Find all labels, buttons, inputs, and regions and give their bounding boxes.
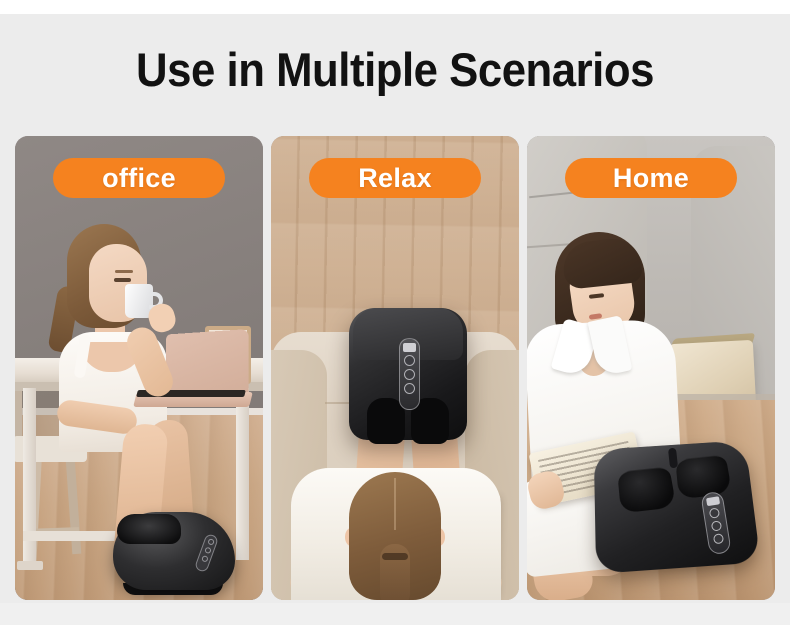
promo-page: Use in Multiple Scenarios (0, 0, 790, 625)
badge-home-label: Home (613, 164, 689, 192)
massager-control-button (404, 369, 415, 380)
massager-foot-opening (117, 514, 181, 544)
massager-control-button (404, 383, 415, 394)
badge-relax[interactable]: Relax (309, 158, 481, 198)
massager-display (706, 496, 720, 506)
page-title: Use in Multiple Scenarios (28, 42, 763, 98)
office-woman-eye (114, 278, 131, 282)
massager-control-button (204, 546, 212, 554)
top-margin-strip (0, 0, 790, 14)
scenario-panel-office[interactable]: office (15, 136, 263, 600)
scenario-panel-home[interactable]: Home (527, 136, 775, 600)
bottom-margin-strip (0, 603, 790, 625)
badge-home[interactable]: Home (565, 158, 737, 198)
foot-massager-office (113, 512, 235, 590)
office-desk-foot (17, 561, 43, 570)
badge-office-label: office (102, 164, 176, 192)
massager-control-panel (399, 338, 420, 410)
massager-control-button (207, 538, 215, 546)
massager-control-button (711, 520, 722, 531)
scenario-panel-row: office (15, 136, 775, 600)
office-woman-eyebrow (115, 270, 133, 273)
badge-relax-label: Relax (358, 164, 432, 192)
foot-massager-home (595, 440, 753, 568)
massager-control-button (404, 355, 415, 366)
massager-control-button (713, 533, 724, 544)
badge-office[interactable]: office (53, 158, 225, 198)
massager-display (403, 343, 416, 352)
massager-control-button (709, 507, 720, 518)
foot-massager-relax (349, 308, 467, 440)
relax-woman-hair-tie (382, 553, 408, 560)
scenario-panel-relax[interactable]: Relax (271, 136, 519, 600)
massager-control-button (201, 555, 209, 563)
relax-woman-hair-part (394, 478, 396, 530)
office-desk-leg-right (236, 388, 249, 560)
